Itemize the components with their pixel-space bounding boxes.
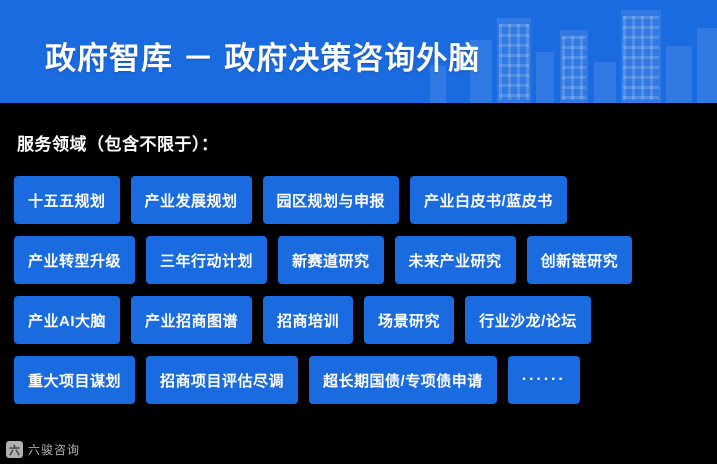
header-banner: 政府智库 － 政府决策咨询外脑 [0,0,717,103]
service-area-chip[interactable]: 未来产业研究 [395,236,516,284]
watermark-text: 六骏咨询 [28,441,80,458]
service-area-chip[interactable]: 场景研究 [364,296,454,344]
building-windows-pattern [499,24,529,100]
service-areas-row: 重大项目谋划招商项目评估尽调超长期国债/专项债申请······ [14,356,703,404]
service-area-chip[interactable]: 行业沙龙/论坛 [465,296,591,344]
watermark: 六 六骏咨询 [6,441,80,458]
service-area-chip[interactable]: 园区规划与申报 [263,176,400,224]
service-areas-row: 十五五规划产业发展规划园区规划与申报产业白皮书/蓝皮书 [14,176,703,224]
service-area-chip[interactable]: 三年行动计划 [146,236,267,284]
service-area-chip[interactable]: 产业转型升级 [14,236,135,284]
service-area-chip[interactable]: ······ [508,356,580,404]
service-area-chip[interactable]: 创新链研究 [527,236,633,284]
service-area-chip[interactable]: 产业招商图谱 [131,296,252,344]
watermark-logo-icon: 六 [6,441,23,458]
poster-page: 政府智库 － 政府决策咨询外脑 服务领域（包含不限于）： 十五五规划产业发展规划… [0,0,717,464]
service-area-chip[interactable]: 招商项目评估尽调 [146,356,298,404]
service-area-chip[interactable]: 产业AI大脑 [14,296,120,344]
building-silhouette-icon [666,46,692,103]
building-silhouette-icon [536,52,554,103]
service-area-chip[interactable]: 超长期国债/专项债申请 [309,356,497,404]
section-label: 服务领域（包含不限于）： [17,130,219,155]
page-title: 政府智库 － 政府决策咨询外脑 [45,33,480,78]
service-area-chip[interactable]: 产业白皮书/蓝皮书 [410,176,567,224]
service-areas-grid: 十五五规划产业发展规划园区规划与申报产业白皮书/蓝皮书产业转型升级三年行动计划新… [14,176,703,416]
building-silhouette-icon [697,28,717,103]
service-area-chip[interactable]: 重大项目谋划 [14,356,135,404]
building-windows-pattern [562,36,586,100]
building-windows-pattern [623,16,659,100]
service-areas-row: 产业AI大脑产业招商图谱招商培训场景研究行业沙龙/论坛 [14,296,703,344]
service-area-chip[interactable]: 产业发展规划 [131,176,252,224]
service-areas-row: 产业转型升级三年行动计划新赛道研究未来产业研究创新链研究 [14,236,703,284]
service-area-chip[interactable]: 新赛道研究 [278,236,384,284]
service-area-chip[interactable]: 十五五规划 [14,176,120,224]
service-area-chip[interactable]: 招商培训 [263,296,353,344]
building-silhouette-icon [594,62,616,103]
